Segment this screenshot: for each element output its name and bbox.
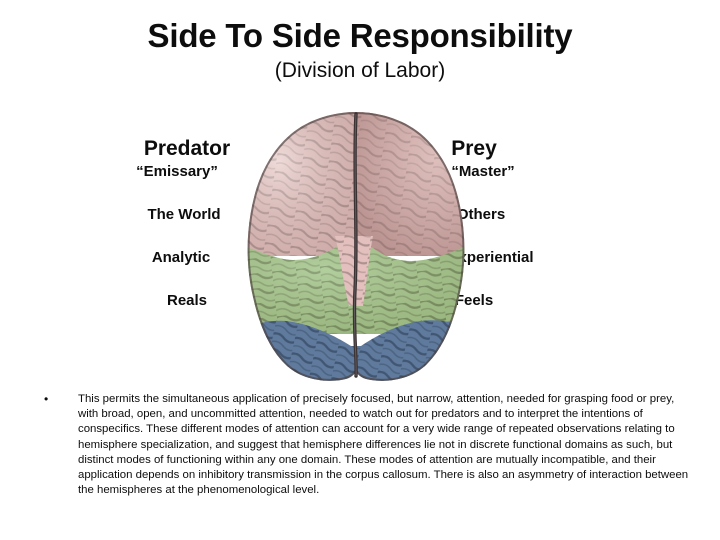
body-paragraph: This permits the simultaneous applicatio… [78, 392, 696, 498]
brain-diagram-image [231, 110, 481, 384]
presentation-slide: Side To Side Responsibility (Division of… [0, 0, 720, 540]
page-subtitle: (Division of Labor) [0, 58, 720, 83]
bullet-marker: • [36, 392, 78, 407]
title-block: Side To Side Responsibility (Division of… [0, 18, 720, 83]
body-note: • This permits the simultaneous applicat… [36, 392, 696, 498]
page-title: Side To Side Responsibility [0, 18, 720, 55]
